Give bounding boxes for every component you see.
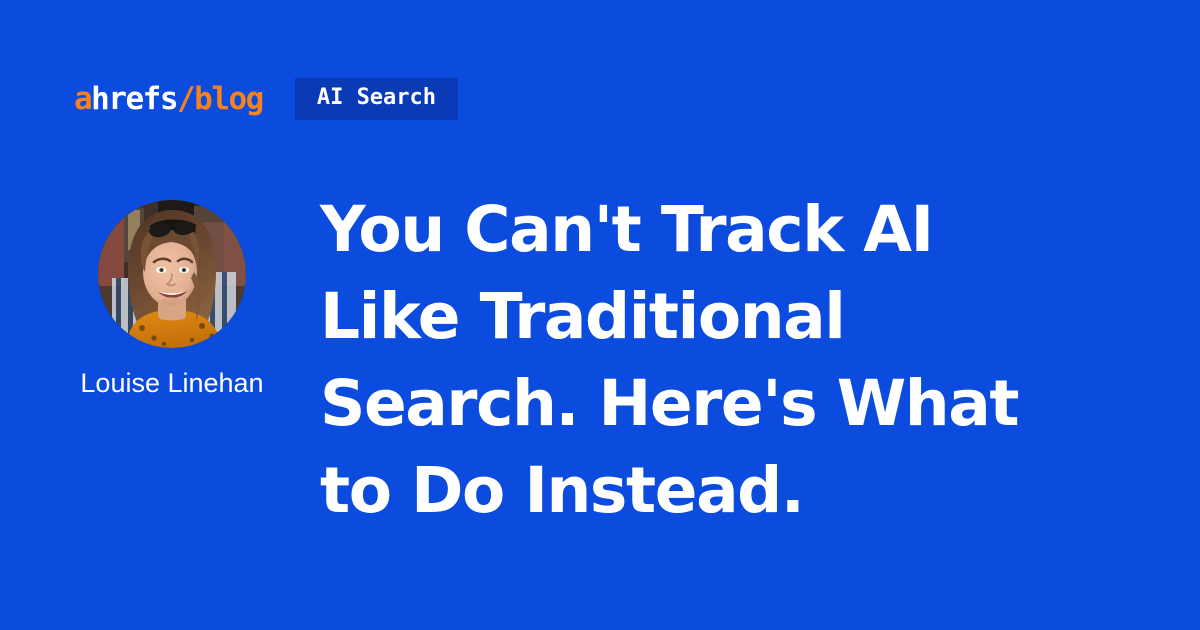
headline-line: to Do Instead. <box>320 447 1130 534</box>
avatar <box>98 200 246 348</box>
logo-word-blog: blog <box>194 81 263 117</box>
category-badge[interactable]: AI Search <box>295 78 458 120</box>
ahrefs-blog-logo[interactable]: ahrefs/blog <box>74 84 263 115</box>
blog-share-card: ahrefs/blog AI Search <box>0 0 1200 630</box>
card-header: ahrefs/blog AI Search <box>74 78 458 120</box>
logo-slash: / <box>177 81 194 117</box>
author-block: Louise Linehan <box>40 200 304 399</box>
logo-letter-a: a <box>74 81 91 117</box>
avatar-photo <box>98 200 246 348</box>
logo-word-hrefs: hrefs <box>91 81 177 117</box>
headline: You Can't Track AI Like Traditional Sear… <box>320 186 1130 534</box>
headline-line: You Can't Track AI <box>320 186 1130 273</box>
author-name: Louise Linehan <box>80 369 263 399</box>
headline-line: Like Traditional <box>320 273 1130 360</box>
headline-line: Search. Here's What <box>320 360 1130 447</box>
